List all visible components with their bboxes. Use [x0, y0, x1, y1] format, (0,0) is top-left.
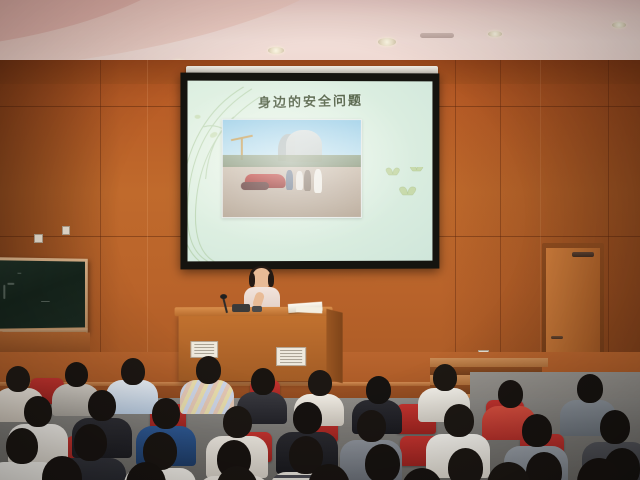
microphone-icon — [220, 294, 227, 299]
downlight-icon — [488, 31, 502, 37]
wall-outlet-plate — [34, 234, 43, 243]
wall-panel-seam — [147, 60, 148, 390]
audience-head — [293, 402, 322, 434]
audience-head — [196, 356, 221, 384]
audience-member — [110, 462, 176, 480]
projected-slide: 身边的安全问题 — [188, 81, 433, 262]
photo-bystander — [286, 170, 293, 189]
audience-head — [65, 362, 88, 387]
downlight-icon — [378, 38, 396, 46]
audience-head — [433, 364, 457, 391]
chalk-mark — [3, 285, 5, 299]
audience-member — [292, 464, 360, 480]
audience-head — [577, 458, 621, 480]
audience-head — [152, 398, 180, 429]
door-closer-icon — [572, 252, 594, 257]
audience-head — [308, 464, 350, 480]
audience-member — [560, 458, 632, 480]
audience-head — [522, 414, 552, 447]
audience-head — [577, 374, 603, 403]
photo-bystander — [296, 171, 303, 189]
audience-head — [498, 380, 523, 408]
podium-equipment — [232, 304, 250, 312]
audience-member — [186, 356, 228, 412]
projection-screen: 身边的安全问题 — [180, 73, 439, 270]
audience-head — [216, 466, 258, 480]
audience-head — [6, 366, 30, 392]
audience-head — [366, 376, 391, 404]
chalk-mark — [7, 283, 14, 285]
butterfly-decoration-icon — [383, 167, 427, 207]
podium-equipment — [252, 306, 262, 312]
presenter-hair-left — [249, 273, 255, 287]
downlight-icon — [612, 22, 626, 28]
chalk-mark — [17, 273, 21, 274]
audience-head — [487, 462, 530, 480]
presenter-hair-right — [268, 273, 274, 287]
audience-member — [200, 466, 268, 480]
audience-head — [357, 410, 386, 442]
audience-head — [600, 410, 630, 444]
photo-vehicle-shadow — [241, 182, 269, 190]
slide-photo — [222, 119, 362, 218]
wall-outlet-plate — [62, 226, 70, 235]
photo-bystander — [314, 169, 322, 193]
ceiling-vent — [420, 33, 454, 38]
audience-member — [384, 468, 454, 480]
chalkboard — [0, 257, 88, 335]
audience-head — [88, 390, 116, 421]
door-handle-icon[interactable] — [551, 336, 563, 339]
audience-head — [444, 404, 474, 437]
chalkboard-surface — [0, 260, 85, 328]
audience-head — [24, 396, 52, 427]
audience-head — [121, 358, 145, 385]
audience-head — [126, 462, 166, 480]
papers-on-podium — [296, 306, 323, 313]
audience-head — [308, 370, 332, 396]
photo-bystander — [304, 170, 311, 190]
audience-member — [26, 456, 92, 480]
audience-head — [401, 468, 443, 480]
audience-head — [223, 406, 252, 438]
wall-shadow-right — [440, 60, 640, 390]
audience-member — [470, 462, 540, 480]
downlight-icon — [268, 47, 284, 54]
audience-head — [42, 456, 82, 480]
audience — [0, 352, 640, 480]
audience-head — [251, 368, 275, 395]
lecture-hall-photo: 身边的安全问题 — [0, 0, 640, 480]
chalk-mark — [41, 301, 50, 302]
